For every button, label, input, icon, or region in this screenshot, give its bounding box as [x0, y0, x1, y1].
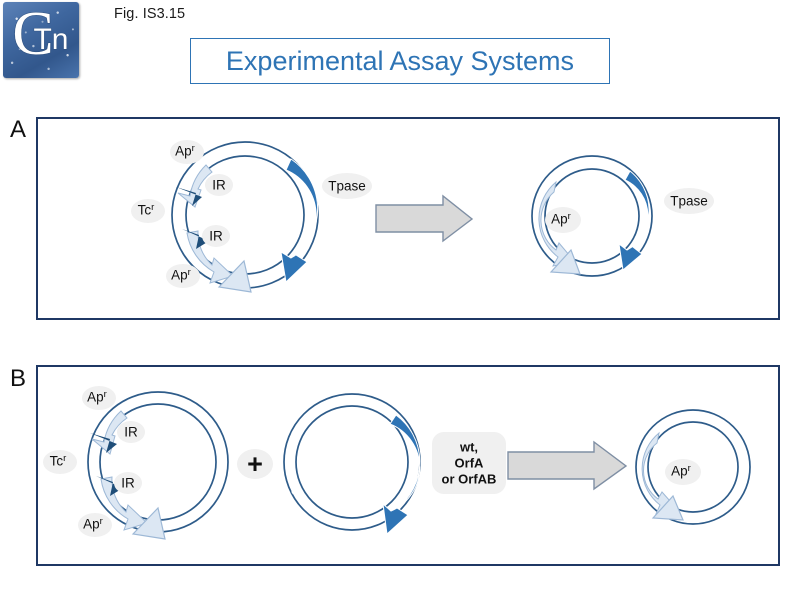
- panel-b-frame: [36, 365, 780, 566]
- panel-b-letter: B: [10, 365, 26, 393]
- figure-number: Fig. IS3.15: [114, 6, 185, 22]
- logo-letter-tn: Tn: [33, 23, 68, 56]
- page-title: Experimental Assay Systems: [226, 46, 574, 77]
- logo-glyphs: C Tn: [3, 2, 79, 78]
- ctn-logo: C Tn: [3, 2, 79, 78]
- title-box: Experimental Assay Systems: [190, 38, 610, 84]
- panel-a-frame: [36, 117, 780, 320]
- panel-a-letter: A: [10, 116, 26, 144]
